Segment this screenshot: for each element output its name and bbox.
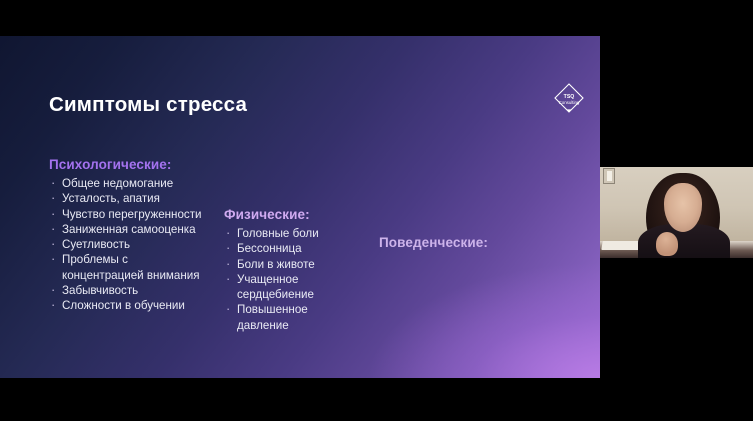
column-psychological: Психологические: Общее недомогание Устал…	[49, 157, 239, 314]
list-item: Сложности в обучении	[49, 298, 239, 313]
list-item: Проблемы с концентрацией внимания	[49, 252, 239, 283]
list-item: Общее недомогание	[49, 176, 239, 191]
letterbox-top	[0, 0, 753, 36]
list-item: Бессонница	[224, 241, 354, 256]
column-heading-psychological: Психологические:	[49, 157, 239, 172]
screen: Симптомы стресса TSQ Consulting Психолог…	[0, 0, 753, 421]
list-item: Учащенное сердцебиение	[224, 272, 354, 303]
list-item: Усталость, апатия	[49, 191, 239, 206]
presentation-slide: Симптомы стресса TSQ Consulting Психолог…	[0, 36, 600, 378]
column-behavioral: Поведенческие:	[379, 235, 529, 254]
list-psychological: Общее недомогание Усталость, апатия Чувс…	[49, 176, 239, 314]
column-heading-physical: Физические:	[224, 207, 354, 222]
list-item: Боли в животе	[224, 257, 354, 272]
wall-switch-icon	[603, 168, 615, 184]
list-physical: Головные боли Бессонница Боли в животе У…	[224, 226, 354, 333]
column-physical: Физические: Головные боли Бессонница Бол…	[224, 207, 354, 333]
column-heading-behavioral: Поведенческие:	[379, 235, 529, 250]
list-item: Заниженная самооценка	[49, 222, 239, 237]
speaker-arm	[656, 232, 678, 256]
list-item: Забывчивость	[49, 283, 239, 298]
page-title: Симптомы стресса	[49, 93, 247, 117]
list-item: Головные боли	[224, 226, 354, 241]
list-item: Повышенное давление	[224, 302, 354, 333]
webcam-speaker-tile[interactable]	[600, 167, 753, 258]
svg-text:Consulting: Consulting	[559, 100, 580, 105]
list-item: Чувство перегруженности	[49, 207, 239, 222]
letterbox-bottom	[0, 378, 753, 421]
letterbox-right-lower	[600, 258, 753, 378]
list-item: Суетливость	[49, 237, 239, 252]
letterbox-right-upper	[600, 36, 753, 167]
tsq-consulting-logo-icon: TSQ Consulting	[549, 79, 589, 119]
